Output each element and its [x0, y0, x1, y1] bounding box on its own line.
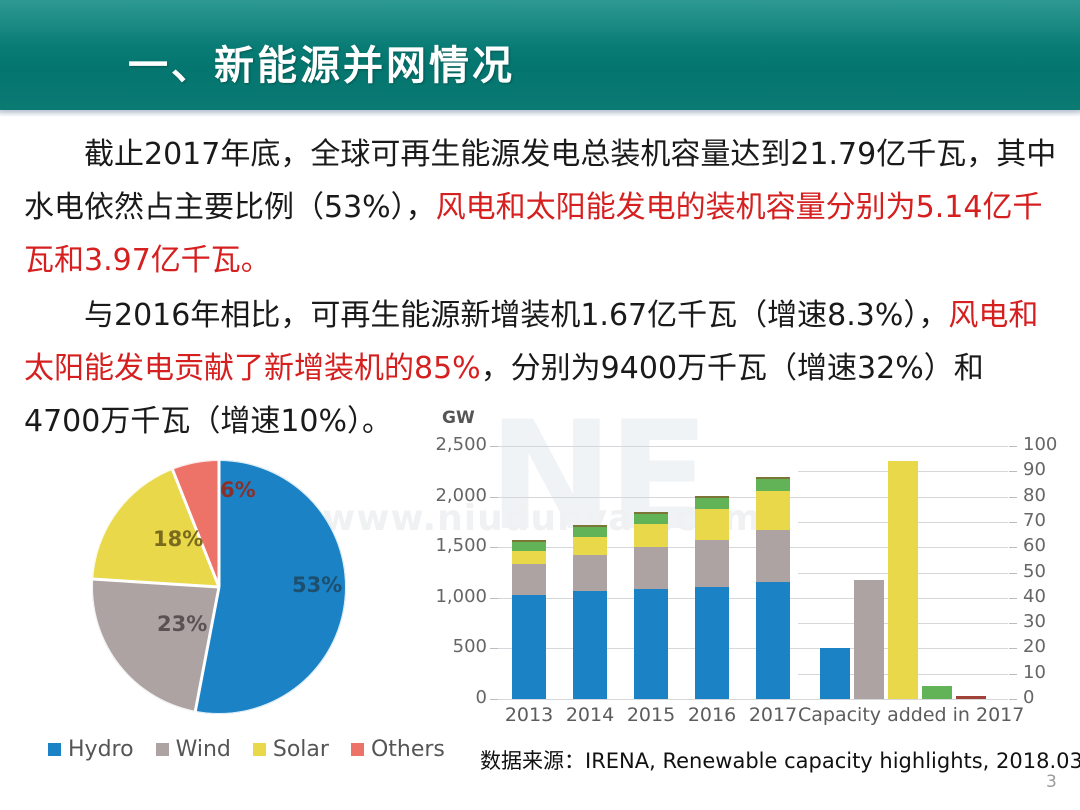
x-label-2017: 2017 [748, 704, 798, 726]
bar-segment-2014-others [573, 525, 607, 527]
y-tick-left-1000: 1,000 [435, 586, 487, 607]
bar-segment-2017-solar [756, 491, 790, 530]
legend-swatch-solar [253, 743, 266, 756]
pie-chart: 6% 18% 23% 53% HydroWindSolarOthers [40, 448, 410, 768]
right-panel-title: Capacity added in 2017 [798, 704, 1008, 726]
bar-segment-2016-others [695, 496, 729, 498]
bar-segment-2017-hydro [756, 582, 790, 699]
bar-segment-2014-solar [573, 537, 607, 555]
legend-swatch-hydro [48, 743, 61, 756]
y-tick-right-20: 20 [1023, 636, 1046, 657]
x-label-2014: 2014 [565, 704, 615, 726]
y-tick-right-10: 10 [1023, 662, 1046, 683]
legend-label-hydro: Hydro [68, 737, 134, 762]
stacked-bar-2014[interactable] [573, 446, 607, 699]
y-tick-right-60: 60 [1023, 535, 1046, 556]
bar-segment-2013-bioenergy [512, 542, 546, 551]
added-bar-solar[interactable] [888, 461, 918, 699]
bar-segment-2013-wind [512, 564, 546, 594]
legend-label-wind: Wind [176, 737, 231, 762]
bar-segment-2013-hydro [512, 595, 546, 699]
source-note: 数据来源：IRENA, Renewable capacity highlight… [480, 745, 1080, 775]
legend-swatch-wind [156, 743, 169, 756]
y-tick-right-80: 80 [1023, 485, 1046, 506]
bar-segment-2013-solar [512, 551, 546, 565]
stacked-bar-2016[interactable] [695, 446, 729, 699]
tickmark-left-2000 [490, 497, 498, 498]
gridline-right-0 [798, 699, 1008, 700]
gridline-right-100 [798, 446, 1008, 447]
stacked-bar-2017[interactable] [756, 446, 790, 699]
bar-segment-2015-bioenergy [634, 514, 668, 525]
pie-legend-item-hydro[interactable]: Hydro [48, 737, 134, 762]
y-tick-left-2000: 2,000 [435, 485, 487, 506]
bar-segment-2014-wind [573, 555, 607, 591]
stacked-bar-2015[interactable] [634, 446, 668, 699]
y-tick-left-1500: 1,500 [435, 535, 487, 556]
pie-label-hydro: 53% [292, 573, 342, 597]
paragraph-1: 截止2017年底，全球可再生能源发电总装机容量达到21.79亿千瓦，其中水电依然… [24, 128, 1060, 287]
pie-legend-item-solar[interactable]: Solar [253, 737, 329, 762]
y-tick-right-40: 40 [1023, 586, 1046, 607]
y-tick-left-2500: 2,500 [435, 434, 487, 455]
tickmark-right-70 [1009, 522, 1017, 523]
panel-divider [794, 446, 795, 699]
bar-segment-2014-hydro [573, 591, 607, 699]
y-tick-left-500: 500 [453, 636, 487, 657]
tickmark-left-1000 [490, 598, 498, 599]
bar-segment-2014-bioenergy [573, 527, 607, 537]
legend-swatch-others [351, 743, 364, 756]
y-tick-left-0: 0 [476, 687, 487, 708]
bar-chart: GW 05001,0001,5002,0002,5000102030405060… [424, 408, 1044, 738]
tickmark-right-90 [1009, 471, 1017, 472]
x-label-2016: 2016 [687, 704, 737, 726]
pie-label-wind: 23% [157, 612, 207, 636]
added-bar-bioenergy[interactable] [922, 686, 952, 699]
added-bar-wind[interactable] [854, 580, 884, 699]
bar-segment-2016-wind [695, 540, 729, 588]
x-label-2013: 2013 [504, 704, 554, 726]
bar-segment-2013-others [512, 540, 546, 542]
tickmark-right-50 [1009, 573, 1017, 574]
page-number: 3 [1046, 772, 1057, 792]
pie-legend: HydroWindSolarOthers [48, 734, 408, 764]
pie-legend-item-wind[interactable]: Wind [156, 737, 231, 762]
bar-segment-2016-solar [695, 509, 729, 539]
slide-header-bar: 一、新能源并网情况 [0, 0, 1080, 110]
y-tick-right-0: 0 [1023, 687, 1034, 708]
added-bar-others[interactable] [956, 696, 986, 699]
tickmark-right-10 [1009, 674, 1017, 675]
legend-label-solar: Solar [273, 737, 329, 762]
x-label-2015: 2015 [626, 704, 676, 726]
bar-segment-2017-others [756, 477, 790, 479]
pie-legend-item-others[interactable]: Others [351, 737, 445, 762]
body-text: 截止2017年底，全球可再生能源发电总装机容量达到21.79亿千瓦，其中水电依然… [24, 128, 1060, 448]
tickmark-left-0 [490, 699, 498, 700]
pie-label-solar: 18% [153, 527, 203, 551]
y-tick-right-100: 100 [1023, 434, 1057, 455]
bar-segment-2016-hydro [695, 587, 729, 699]
bar-segment-2015-hydro [634, 589, 668, 699]
para2-seg-0: 与2016年相比，可再生能源新增装机1.67亿千瓦（增速8.3%）， [84, 298, 948, 333]
slide: 一、新能源并网情况 NE www.niudunyan.com 截止2017年底，… [0, 0, 1080, 810]
y-axis-unit-label: GW [442, 408, 475, 428]
bar-segment-2016-bioenergy [695, 498, 729, 509]
legend-label-others: Others [371, 737, 445, 762]
bar-plot-area: 05001,0001,5002,0002,5000102030405060708… [498, 446, 1008, 699]
slide-title: 一、新能源并网情况 [128, 33, 515, 91]
bar-segment-2015-others [634, 512, 668, 514]
added-bar-hydro[interactable] [820, 648, 850, 699]
bar-segment-2017-bioenergy [756, 479, 790, 491]
pie-label-others: 6% [220, 478, 256, 502]
y-tick-right-90: 90 [1023, 459, 1046, 480]
tickmark-left-2500 [490, 446, 498, 447]
bar-segment-2015-solar [634, 524, 668, 547]
tickmark-right-100 [1009, 446, 1017, 447]
y-tick-right-50: 50 [1023, 561, 1046, 582]
tickmark-left-500 [490, 648, 498, 649]
stacked-bar-2013[interactable] [512, 446, 546, 699]
tickmark-right-40 [1009, 598, 1017, 599]
bar-segment-2015-wind [634, 547, 668, 589]
tickmark-left-1500 [490, 547, 498, 548]
y-tick-right-70: 70 [1023, 510, 1046, 531]
tickmark-right-0 [1009, 699, 1017, 700]
tickmark-right-60 [1009, 547, 1017, 548]
bar-segment-2017-wind [756, 530, 790, 582]
x-axis-labels: 20132014201520162017Capacity added in 20… [498, 704, 1008, 734]
y-tick-right-30: 30 [1023, 611, 1046, 632]
tickmark-right-80 [1009, 497, 1017, 498]
tickmark-right-30 [1009, 623, 1017, 624]
tickmark-right-20 [1009, 648, 1017, 649]
